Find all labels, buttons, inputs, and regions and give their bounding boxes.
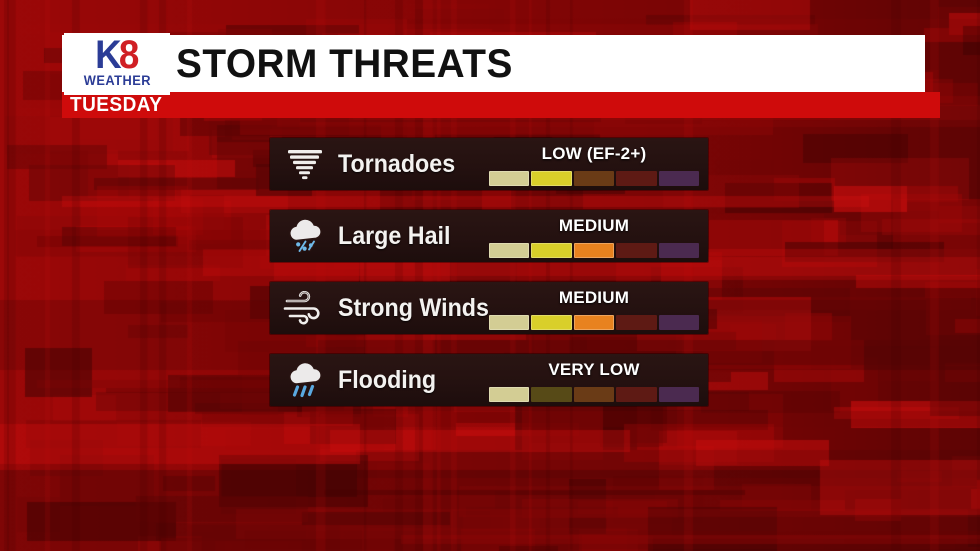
page-title: STORM THREATS xyxy=(176,41,513,87)
risk-meter xyxy=(489,387,699,402)
rain-cloud-icon xyxy=(276,356,334,404)
risk-meter-block: VERY LOW xyxy=(489,358,699,402)
station-logo: K 8 WEATHER xyxy=(64,33,170,95)
risk-meter-segment xyxy=(489,171,529,186)
risk-meter-segment xyxy=(616,315,656,330)
risk-meter-segment xyxy=(531,315,571,330)
risk-meter-segment xyxy=(574,243,614,258)
risk-meter-segment xyxy=(616,171,656,186)
logo-letter-k: K xyxy=(95,35,120,75)
risk-meter-segment xyxy=(531,171,571,186)
logo-weather-word: WEATHER xyxy=(83,73,150,88)
risk-meter-segment xyxy=(531,387,571,402)
wind-icon xyxy=(276,284,334,332)
risk-meter-segment xyxy=(659,171,699,186)
threat-name: Flooding xyxy=(338,354,436,406)
threat-name: Tornadoes xyxy=(338,138,455,190)
risk-meter xyxy=(489,171,699,186)
risk-meter-segment xyxy=(659,243,699,258)
risk-level-label: MEDIUM xyxy=(489,286,699,310)
risk-level-label: LOW (EF-2+) xyxy=(489,142,699,166)
threat-name: Strong Winds xyxy=(338,282,489,334)
risk-meter-segment xyxy=(616,387,656,402)
threat-row[interactable]: Strong WindsMEDIUM xyxy=(270,282,708,334)
risk-meter-segment xyxy=(489,315,529,330)
tornado-icon xyxy=(276,140,334,188)
threat-row[interactable]: TornadoesLOW (EF-2+) xyxy=(270,138,708,190)
risk-level-label: MEDIUM xyxy=(489,214,699,238)
header: K 8 WEATHER STORM THREATS TUESDAY xyxy=(0,0,980,125)
threat-row[interactable]: FloodingVERY LOW xyxy=(270,354,708,406)
logo-mark: K 8 xyxy=(94,35,140,75)
header-red-underbar xyxy=(62,92,940,118)
risk-level-label: VERY LOW xyxy=(489,358,699,382)
risk-meter-segment xyxy=(489,243,529,258)
risk-meter-block: LOW (EF-2+) xyxy=(489,142,699,186)
day-label: TUESDAY xyxy=(70,93,162,118)
storm-threats-list: TornadoesLOW (EF-2+) Large HailMEDIUM xyxy=(270,138,708,426)
risk-meter-segment xyxy=(659,387,699,402)
risk-meter-segment xyxy=(659,315,699,330)
logo-number-8: 8 xyxy=(119,35,139,75)
risk-meter-segment xyxy=(574,387,614,402)
risk-meter xyxy=(489,315,699,330)
risk-meter-segment xyxy=(531,243,571,258)
risk-meter xyxy=(489,243,699,258)
risk-meter-block: MEDIUM xyxy=(489,286,699,330)
risk-meter-segment xyxy=(574,315,614,330)
threat-name: Large Hail xyxy=(338,210,450,262)
threat-row[interactable]: Large HailMEDIUM xyxy=(270,210,708,262)
risk-meter-segment xyxy=(616,243,656,258)
risk-meter-segment xyxy=(574,171,614,186)
risk-meter-segment xyxy=(489,387,529,402)
hail-cloud-icon xyxy=(276,212,334,260)
risk-meter-block: MEDIUM xyxy=(489,214,699,258)
